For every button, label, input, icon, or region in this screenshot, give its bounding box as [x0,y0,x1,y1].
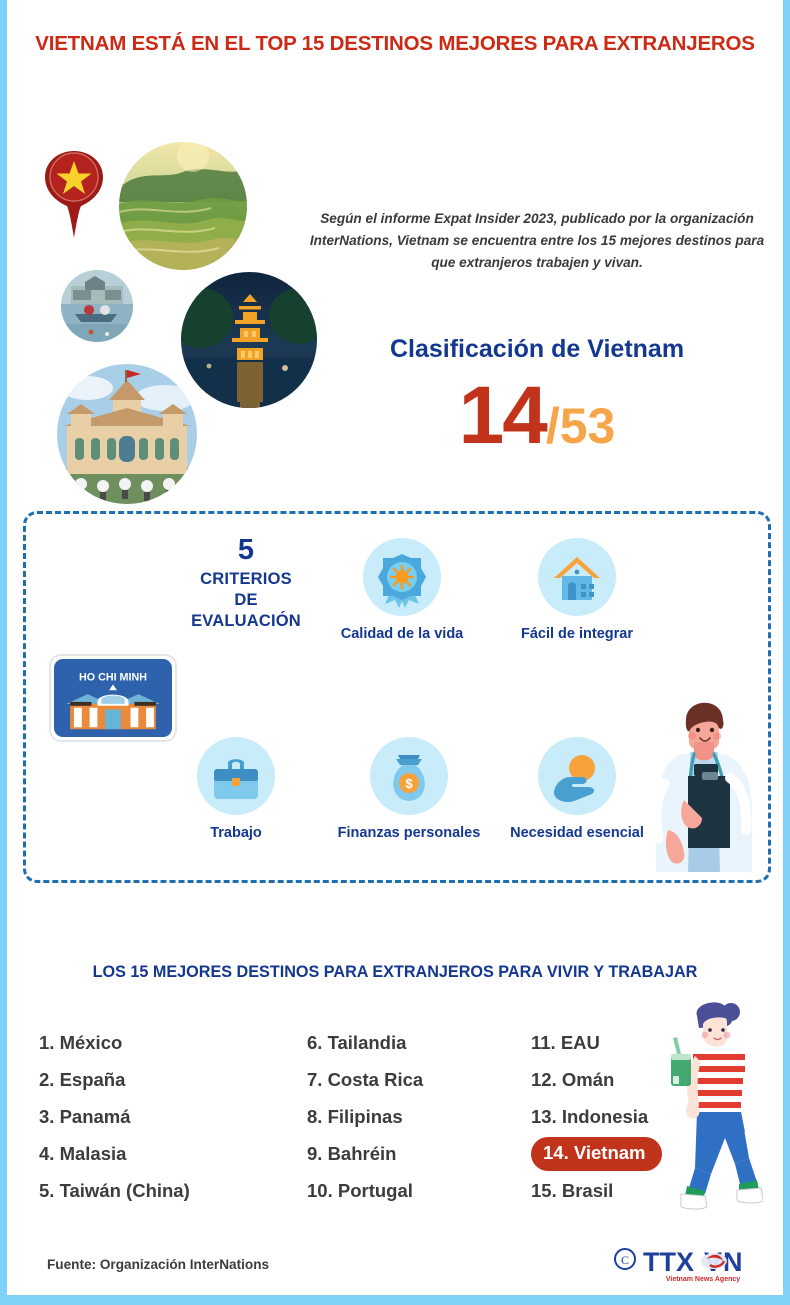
criteria-heading-line1: CRITERIOS [146,569,346,590]
map-pin-vietnam-flag-icon [43,150,105,238]
money-bag-icon: $ [370,737,448,815]
intro-paragraph: Según el informe Expat Insider 2023, pub… [307,208,767,274]
criterion-quality-of-life[interactable]: Calidad de la vida [327,538,477,643]
criterion-personal-finances[interactable]: $ Finanzas personales [334,737,484,842]
svg-text:C: C [621,1253,629,1267]
ranking-column-1: 1. México 2. España 3. Panamá 4. Malasia… [39,1026,309,1211]
ttxvn-logo: C TTX V N Vietnam News Agency [611,1243,761,1283]
hand-holding-sun-icon [538,737,616,815]
rank-number: 14/53 [307,375,767,457]
criteria-box: 5 CRITERIOS DE EVALUACIÓN HO CHI MINH [23,511,771,883]
doctor-with-clipboard-illustration [646,680,762,880]
list-item: 3. Panamá [39,1100,309,1137]
badge-label-text: HO CHI MINH [79,671,147,683]
medal-badge-icon [363,538,441,616]
list-item-highlight-vietnam: 14. Vietnam [531,1137,662,1171]
header: VIETNAM ESTÁ EN EL TOP 15 DESTINOS MEJOR… [7,32,783,56]
briefcase-icon [197,737,275,815]
criterion-label: Trabajo [161,825,311,842]
photo-collage [29,136,329,506]
logo-text: TTX [643,1247,694,1277]
criterion-label: Finanzas personales [334,825,484,842]
criteria-heading-line2: DE [146,590,346,611]
criterion-label: Necesidad esencial [502,825,652,842]
rank-title: Clasificación de Vietnam [307,335,767,364]
hanoi-turtle-tower-photo [181,272,317,408]
list-item: 2. España [39,1063,309,1100]
list-item: 8. Filipinas [307,1100,527,1137]
logo-tagline: Vietnam News Agency [666,1276,740,1283]
boat-village-photo [61,270,133,342]
criteria-count: 5 [146,532,346,569]
rice-terraces-photo [119,142,247,270]
infographic-page: VIETNAM ESTÁ EN EL TOP 15 DESTINOS MEJOR… [0,0,790,1305]
source-text: Fuente: Organización InterNations [47,1257,269,1272]
list-item: 4. Malasia [39,1137,309,1174]
rank-total: /53 [546,398,616,454]
ho-chi-minh-badge: HO CHI MINH [49,654,177,742]
svg-text:$: $ [405,776,413,791]
rank-value: 14 [459,370,546,461]
ho-chi-minh-city-hall-photo [57,364,197,504]
bottom-accent-bar [7,1295,783,1305]
criteria-heading: 5 CRITERIOS DE EVALUACIÓN [146,532,346,632]
list-item: 5. Taiwán (China) [39,1174,309,1211]
criterion-label: Calidad de la vida [327,626,477,643]
list-item: 6. Tailandia [307,1026,527,1063]
house-icon [538,538,616,616]
list-item: 9. Bahréin [307,1137,527,1174]
criterion-work[interactable]: Trabajo [161,737,311,842]
criterion-label: Fácil de integrar [502,626,652,643]
criterion-easy-to-integrate[interactable]: Fácil de integrar [502,538,652,643]
criteria-heading-line3: EVALUACIÓN [146,611,346,632]
list-item: 7. Costa Rica [307,1063,527,1100]
list-item: 10. Portugal [307,1174,527,1211]
ranking-title: LOS 15 MEJORES DESTINOS PARA EXTRANJEROS… [7,963,783,982]
list-item: 1. México [39,1026,309,1063]
walking-woman-with-drink-illustration [653,998,763,1210]
ranking-column-2: 6. Tailandia 7. Costa Rica 8. Filipinas … [307,1026,527,1211]
hero-section: Según el informe Expat Insider 2023, pub… [7,130,783,510]
page-title: VIETNAM ESTÁ EN EL TOP 15 DESTINOS MEJOR… [7,32,783,56]
criterion-essential-needs[interactable]: Necesidad esencial [502,737,652,842]
